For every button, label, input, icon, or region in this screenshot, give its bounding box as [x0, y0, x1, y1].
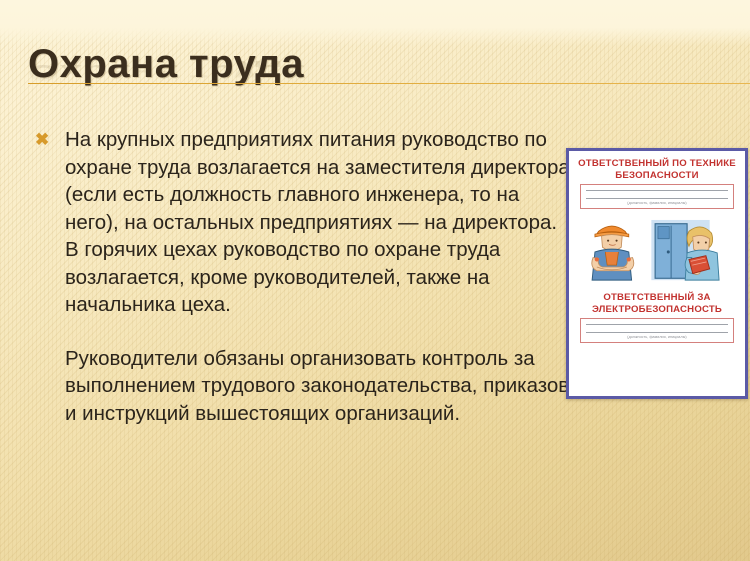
bullet-paragraph-2: Руководители обязаны организовать контро…	[30, 345, 575, 428]
field-rule	[586, 190, 728, 191]
background-top-wash	[0, 0, 750, 46]
field-caption: (должность, фамилия, инициалы)	[586, 335, 728, 340]
title-underline-rule	[28, 83, 750, 84]
page-title: Охрана труда	[28, 44, 304, 84]
poster-inner-sheet: ОТВЕТСТВЕННЫЙ ПО ТЕХНИКЕ БЕЗОПАСНОСТИ (д…	[574, 155, 740, 392]
slide-canvas: Охрана труда Охрана труда ✖ На крупных п…	[0, 0, 750, 561]
slide-body: ✖ На крупных предприятиях питания руково…	[30, 126, 575, 427]
paragraph-text: На крупных предприятиях питания руководс…	[65, 128, 570, 316]
bullet-cross-icon: ✖	[35, 128, 49, 152]
poster-top-heading: ОТВЕТСТВЕННЫЙ ПО ТЕХНИКЕ БЕЗОПАСНОСТИ	[574, 155, 740, 183]
poster-bottom-heading: ОТВЕТСТВЕННЫЙ ЗА ЭЛЕКТРОБЕЗОПАСНОСТЬ	[574, 289, 740, 317]
field-caption: (должность, фамилия, инициалы)	[586, 201, 728, 206]
field-rule	[586, 324, 728, 325]
safety-responsibility-poster: ОТВЕТСТВЕННЫЙ ПО ТЕХНИКЕ БЕЗОПАСНОСТИ (д…	[566, 148, 748, 399]
poster-top-name-field: (должность, фамилия, инициалы)	[580, 184, 734, 209]
worker-and-engineer-illustration	[578, 214, 736, 288]
slide-title-block: Охрана труда Охрана труда	[28, 44, 728, 100]
paragraph-text: Руководители обязаны организовать контро…	[65, 347, 569, 425]
bullet-paragraph-1: ✖ На крупных предприятиях питания руково…	[30, 126, 575, 319]
field-rule	[586, 198, 728, 199]
field-rule	[586, 332, 728, 333]
poster-bottom-name-field: (должность, фамилия, инициалы)	[580, 318, 734, 343]
